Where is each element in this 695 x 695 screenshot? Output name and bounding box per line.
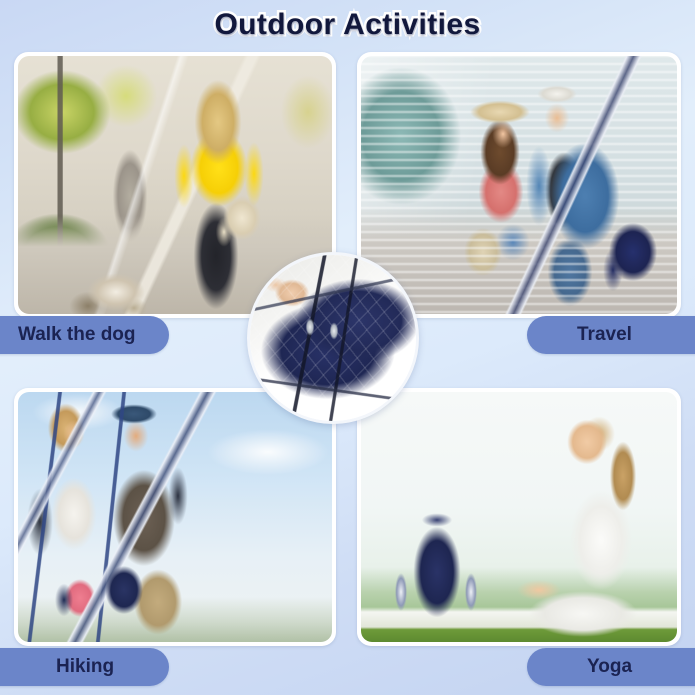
photo-yoga	[361, 392, 677, 642]
page-title-container: Outdoor Activities	[0, 2, 695, 48]
label-text-yoga: Yoga	[587, 656, 632, 678]
label-pill-walk-the-dog: Walk the dog	[0, 316, 169, 354]
photo-hiking	[18, 392, 332, 642]
panel-yoga[interactable]	[357, 388, 681, 646]
product-image-quilted-crossbody-bag	[250, 255, 416, 421]
label-text-hiking: Hiking	[56, 656, 114, 678]
label-pill-yoga: Yoga	[527, 648, 695, 686]
label-text-travel: Travel	[577, 324, 632, 346]
product-circle[interactable]	[247, 252, 419, 424]
page-title: Outdoor Activities	[214, 8, 480, 42]
panel-hiking[interactable]	[14, 388, 336, 646]
label-text-walk-the-dog: Walk the dog	[18, 324, 136, 346]
label-pill-hiking: Hiking	[0, 648, 169, 686]
label-pill-travel: Travel	[527, 316, 695, 354]
